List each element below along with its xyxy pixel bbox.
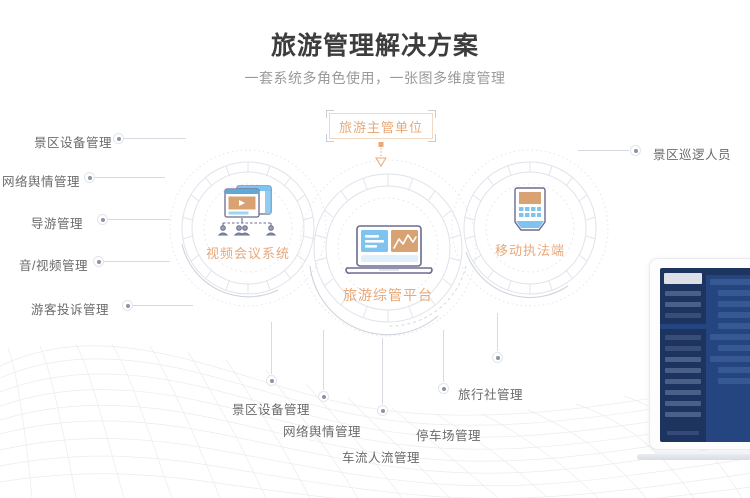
dashboard-menu-item (665, 302, 701, 307)
dashboard-menu-item (665, 291, 701, 296)
left-connector-0 (124, 138, 186, 139)
bottom-connector-1 (323, 330, 324, 390)
dashboard-logo (664, 273, 702, 284)
left-item-label-3: 音/视频管理 (19, 255, 88, 274)
dashboard-row (710, 279, 750, 285)
bottom-item-label-4: 旅行社管理 (458, 384, 523, 403)
left-connector-4 (133, 305, 193, 306)
bottom-item-label-0: 景区设备管理 (232, 399, 310, 418)
dashboard-row (710, 356, 750, 362)
left-item-label-0: 景区设备管理 (34, 132, 112, 151)
dashboard-menu-item (665, 368, 701, 373)
dashboard-menu-item (665, 313, 701, 318)
right-item-label-0: 景区巡逻人员 (653, 144, 731, 163)
bracket-corner-icon (428, 134, 436, 142)
left-item-label-2: 导游管理 (31, 213, 83, 232)
right-connector-0 (578, 150, 629, 151)
authority-badge[interactable]: 旅游主管单位 (329, 113, 433, 139)
dashboard-menu-item (665, 390, 701, 395)
dashboard-content (706, 268, 750, 442)
left-connector-1 (95, 177, 165, 178)
left-item-label-1: 网络舆情管理 (2, 171, 80, 190)
bottom-item-dot-3[interactable] (438, 383, 449, 394)
dashboard-footer (667, 431, 699, 435)
bottom-connector-4 (497, 313, 498, 351)
bottom-item-dot-2[interactable] (377, 405, 388, 416)
poster-canvas: 旅游管理解决方案 一套系统多角色使用，一张图多维度管理 旅游主管单位 (0, 0, 750, 498)
left-item-dot-1[interactable] (84, 172, 95, 183)
left-item-dot-2[interactable] (97, 214, 108, 225)
bottom-item-dot-1[interactable] (318, 391, 329, 402)
dashboard-row (718, 312, 750, 318)
bottom-connector-3 (443, 330, 444, 382)
dashboard-row (718, 323, 750, 329)
mobile-terminal-icon (505, 186, 555, 236)
laptop-screen (649, 258, 750, 450)
left-connector-2 (108, 219, 170, 220)
dashboard-row (718, 345, 750, 351)
dashboard-topbar (706, 268, 750, 275)
dashboard-row (718, 378, 750, 384)
right-item-dot-0[interactable] (630, 145, 641, 156)
bottom-item-label-1: 网络舆情管理 (283, 421, 361, 440)
dashboard-row (718, 290, 750, 296)
left-item-dot-3[interactable] (93, 256, 104, 267)
dashboard-row (718, 367, 750, 373)
dashboard-menu-item (665, 346, 701, 351)
bottom-item-dot-4[interactable] (492, 352, 503, 363)
bottom-item-label-2: 车流人流管理 (342, 447, 420, 466)
bracket-corner-icon (326, 134, 334, 142)
dashboard-menu-item (665, 357, 701, 362)
page-title: 旅游管理解决方案 (0, 26, 750, 62)
left-item-dot-4[interactable] (122, 300, 133, 311)
dashboard-menu-item (665, 412, 701, 417)
video-conference-icon (213, 182, 283, 236)
laptop-base (637, 454, 750, 460)
node-label-platform: 旅游综管平台 (298, 285, 478, 305)
page-subtitle: 一套系统多角色使用，一张图多维度管理 (0, 68, 750, 88)
left-item-label-4: 游客投诉管理 (31, 299, 109, 318)
bracket-corner-icon (428, 110, 436, 118)
authority-badge-label: 旅游主管单位 (329, 113, 433, 139)
dashboard-menu-item (665, 379, 701, 384)
bottom-connector-2 (382, 338, 383, 404)
dashboard-menu-item-active (660, 324, 706, 329)
left-item-dot-0[interactable] (113, 133, 124, 144)
left-connector-3 (104, 261, 170, 262)
dashboard-sidebar (660, 268, 706, 442)
bottom-item-label-3: 停车场管理 (416, 425, 481, 444)
laptop-dashboard-icon (339, 224, 439, 282)
dashboard-row (718, 301, 750, 307)
bottom-item-dot-0[interactable] (266, 375, 277, 386)
dashboard-row (710, 334, 750, 340)
laptop-dashboard-preview (649, 258, 750, 473)
dashboard-menu-item (665, 401, 701, 406)
dashboard-menu-item (665, 335, 701, 340)
dashboard-mock (660, 268, 750, 442)
bottom-connector-0 (271, 322, 272, 374)
bracket-corner-icon (326, 110, 334, 118)
